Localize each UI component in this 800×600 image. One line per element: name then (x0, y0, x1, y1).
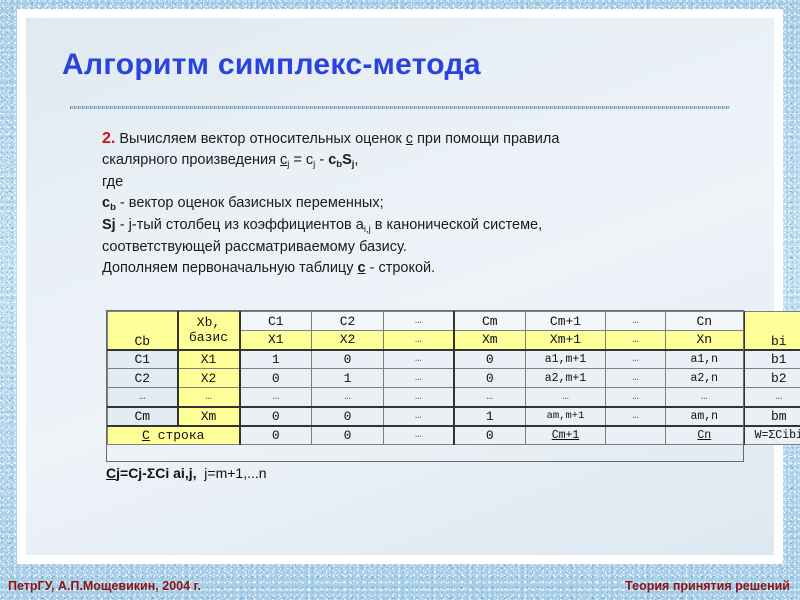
table-header-row-1: Cb Xb, базис C1 C2 … Cm Cm+1 … Cn bi (108, 312, 800, 331)
row-0-xb: X1 (178, 350, 240, 369)
body-line-4-rest: - вектор оценок базисных переменных; (116, 195, 384, 211)
c-stroka-bi: W=ΣCibi (744, 426, 800, 445)
row-3-bi: bm (744, 407, 800, 426)
row-3-cb: Cm (108, 407, 178, 426)
footer-left-text: ПетрГУ, А.П.Мощевикин, 2004 г. (8, 579, 201, 593)
row-1-cell-6: a2,n (666, 369, 744, 388)
row-2-cell-5: … (606, 388, 666, 407)
row-3-cell-4: am,m+1 (526, 407, 606, 426)
body-line-2-sub2: j (313, 159, 315, 170)
body-line-7-c: c (358, 260, 366, 276)
body-line-5-sub: i,j (364, 224, 371, 235)
row-0-cb: C1 (108, 350, 178, 369)
row-0-cell-3: 0 (454, 350, 526, 369)
body-line-5-a: - j-тый столбец из коэффициентов a (116, 217, 364, 233)
c-stroka-label: C строка (108, 426, 240, 445)
header-xb-basis: Xb, базис (178, 312, 240, 350)
body-line-2-a: скалярного произведения (102, 152, 280, 168)
row-1-cell-2: … (384, 369, 454, 388)
c-stroka-cell-6-text: Cn (697, 429, 711, 442)
body-line-5-b: в канонической системе, (371, 217, 542, 233)
row-2-cell-4: … (526, 388, 606, 407)
header-c-3: … (384, 312, 454, 331)
header-c-7: Cn (666, 312, 744, 331)
row-0-cell-2: … (384, 350, 454, 369)
c-stroka-label-c: C (142, 428, 150, 443)
body-line-1-a: Вычисляем вектор относительных оценок (115, 131, 405, 147)
simplex-table: Cb Xb, базис C1 C2 … Cm Cm+1 … Cn bi (107, 311, 800, 445)
row-2-cell-1: … (312, 388, 384, 407)
header-cb: Cb (108, 312, 178, 350)
c-stroka-cell-0: 0 (240, 426, 312, 445)
row-2-cell-2: … (384, 388, 454, 407)
row-0-cell-6: a1,n (666, 350, 744, 369)
body-line-2-eq: = c (289, 152, 313, 168)
title-divider (70, 106, 730, 109)
body-line-2-s: S (342, 152, 352, 168)
c-stroka-cell-6: Cn (666, 426, 744, 445)
formula-text: j=Cj-ΣCi ai,j, (116, 465, 196, 481)
table-row: Cm Xm 0 0 … 1 am,m+1 … am,n bm (108, 407, 800, 426)
body-line-4-cb-sub: b (110, 202, 116, 213)
row-1-cell-4: a2,m+1 (526, 369, 606, 388)
row-0-cell-1: 0 (312, 350, 384, 369)
header-xb-line1: Xb, (180, 315, 238, 330)
body-text-block: 2. Вычисляем вектор относительных оценок… (102, 128, 712, 279)
formula-under-table: Cj=Cj-ΣCi ai,j, j=m+1,...n (106, 465, 267, 481)
table-row: C1 X1 1 0 … 0 a1,m+1 … a1,n b1 (108, 350, 800, 369)
row-0-bi: b1 (744, 350, 800, 369)
header-c-5: Cm+1 (526, 312, 606, 331)
row-2-cb: … (108, 388, 178, 407)
c-stroka-cell-1: 0 (312, 426, 384, 445)
header-bi: bi (744, 312, 800, 350)
header-x-2: X2 (312, 331, 384, 350)
body-line-7-a: Дополняем первоначальную таблицу (102, 260, 358, 276)
row-3-cell-5: … (606, 407, 666, 426)
body-line-2: скалярного произведения cj = cj - cbSj, (102, 150, 712, 172)
row-0-cell-4: a1,m+1 (526, 350, 606, 369)
row-1-cell-1: 1 (312, 369, 384, 388)
slide-content-panel: Алгоритм симплекс-метода 2. Вычисляем ве… (26, 18, 774, 555)
body-line-6: соответствующей рассматриваемому базису. (102, 237, 712, 258)
slide: Алгоритм симплекс-метода 2. Вычисляем ве… (0, 0, 800, 600)
step-number: 2. (102, 130, 115, 147)
table-row: C2 X2 0 1 … 0 a2,m+1 … a2,n b2 (108, 369, 800, 388)
body-line-2-minus: - (315, 152, 328, 168)
row-3-cell-6: am,n (666, 407, 744, 426)
row-2-cell-0: … (240, 388, 312, 407)
header-c-4: Cm (454, 312, 526, 331)
body-line-2-cb-sub: b (336, 159, 342, 170)
row-3-cell-0: 0 (240, 407, 312, 426)
body-line-1-c: c (406, 131, 413, 147)
body-line-5-s: Sj (102, 217, 116, 233)
body-line-5: Sj - j-тый столбец из коэффициентов ai,j… (102, 215, 712, 237)
row-1-cb: C2 (108, 369, 178, 388)
row-0-cell-0: 1 (240, 350, 312, 369)
header-xb-line2: базис (180, 330, 238, 345)
row-2-bi: … (744, 388, 800, 407)
header-c-6: … (606, 312, 666, 331)
c-stroka-cell-5 (606, 426, 666, 445)
row-3-cell-1: 0 (312, 407, 384, 426)
body-line-7-b: - строкой. (366, 260, 436, 276)
table-row: … … … … … … … … … … (108, 388, 800, 407)
row-2-xb: … (178, 388, 240, 407)
body-line-1: 2. Вычисляем вектор относительных оценок… (102, 128, 712, 150)
header-x-4: Xm (454, 331, 526, 350)
body-line-7: Дополняем первоначальную таблицу c - стр… (102, 258, 712, 279)
row-1-bi: b2 (744, 369, 800, 388)
body-line-1-b: при помощи правила (413, 131, 559, 147)
row-1-cell-5: … (606, 369, 666, 388)
table-row-c-stroka: C строка 0 0 … 0 Cm+1 Cn W=ΣCibi (108, 426, 800, 445)
c-stroka-label-rest: строка (150, 428, 205, 443)
row-1-xb: X2 (178, 369, 240, 388)
body-line-2-s-sub: j (352, 159, 355, 170)
row-0-cell-5: … (606, 350, 666, 369)
simplex-table-wrapper: Cb Xb, базис C1 C2 … Cm Cm+1 … Cn bi (107, 311, 743, 445)
body-line-4-cb: c (102, 195, 110, 211)
c-stroka-cell-2: … (384, 426, 454, 445)
page-title: Алгоритм симплекс-метода (62, 48, 752, 82)
row-3-cell-3: 1 (454, 407, 526, 426)
formula-c-underline: C (106, 465, 116, 481)
body-line-2-comma: , (354, 152, 358, 168)
row-3-xb: Xm (178, 407, 240, 426)
c-stroka-cell-3: 0 (454, 426, 526, 445)
formula-range: j=m+1,...n (204, 465, 266, 481)
body-line-3: где (102, 172, 712, 193)
header-c-2: C2 (312, 312, 384, 331)
header-x-6: … (606, 331, 666, 350)
body-line-4: cb - вектор оценок базисных переменных; (102, 193, 712, 215)
header-x-1: X1 (240, 331, 312, 350)
header-x-5: Xm+1 (526, 331, 606, 350)
header-c-1: C1 (240, 312, 312, 331)
header-x-7: Xn (666, 331, 744, 350)
row-3-cell-2: … (384, 407, 454, 426)
footer-right-text: Теория принятия решений (625, 579, 790, 593)
row-2-cell-6: … (666, 388, 744, 407)
c-stroka-cell-4-text: Cm+1 (552, 429, 580, 442)
footer-band: ПетрГУ, А.П.Мощевикин, 2004 г. Теория пр… (0, 563, 800, 600)
row-1-cell-0: 0 (240, 369, 312, 388)
row-2-cell-3: … (454, 388, 526, 407)
c-stroka-cell-4: Cm+1 (526, 426, 606, 445)
header-x-3: … (384, 331, 454, 350)
row-1-cell-3: 0 (454, 369, 526, 388)
